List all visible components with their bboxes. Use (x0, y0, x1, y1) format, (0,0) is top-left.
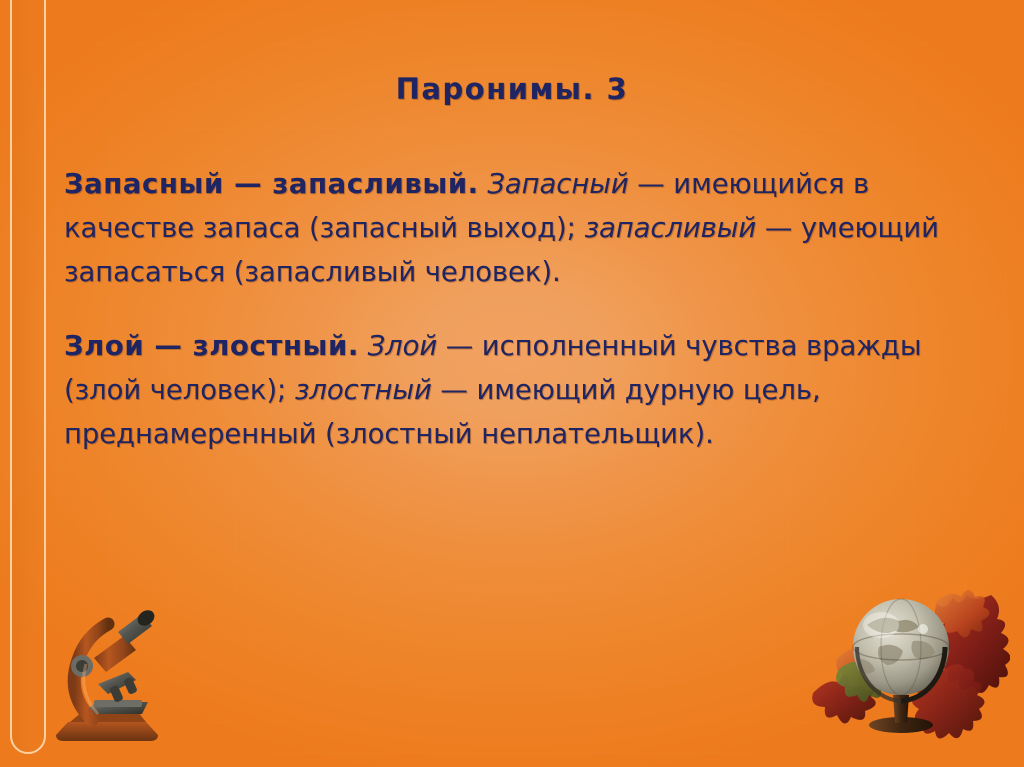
slide-canvas: Паронимы. 3 Запасный — запасливый. Запас… (0, 0, 1024, 767)
paragraph-2-lead: Злой — злостный. (64, 330, 359, 362)
microscope-image (38, 602, 178, 747)
paragraph-1-lead: Запасный — запасливый. (64, 168, 479, 200)
paragraph-1-term-1: Запасный (487, 168, 628, 200)
paragraph-2-term-1: Злой (368, 330, 438, 362)
page-title: Паронимы. 3 (0, 72, 1024, 106)
paragraph-zapasny: Запасный — запасливый. Запасный — имеющи… (64, 162, 954, 294)
slide-body: Запасный — запасливый. Запасный — имеющи… (64, 162, 954, 456)
paragraph-2-term-2: злостный (295, 374, 432, 406)
paragraph-zloy: Злой — злостный. Злой — исполненный чувс… (64, 324, 954, 456)
paragraph-1-term-2: запасливый (585, 212, 757, 244)
globe-with-autumn-leaves-image (795, 573, 1010, 743)
